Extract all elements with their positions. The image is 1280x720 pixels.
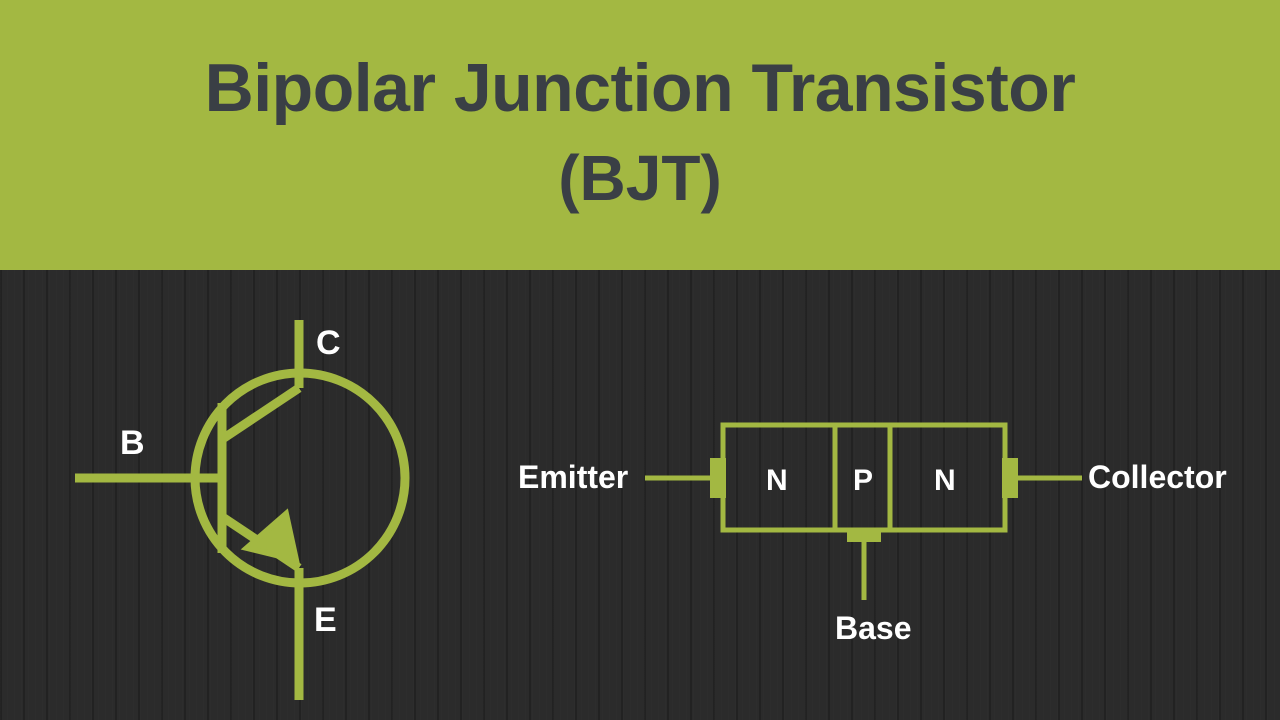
- npn-block-drawing: [0, 270, 1280, 720]
- diagram-stage: C B E: [0, 270, 1280, 720]
- block-collector-label: Collector: [1088, 461, 1227, 493]
- block-base-label: Base: [835, 612, 912, 644]
- region-letter-base: P: [853, 466, 873, 496]
- slide-root: Bipolar Junction Transistor (BJT): [0, 0, 1280, 720]
- title-banner: Bipolar Junction Transistor (BJT): [0, 0, 1280, 270]
- block-emitter-label: Emitter: [518, 461, 628, 493]
- region-letter-emitter: N: [766, 466, 788, 496]
- region-letter-collector: N: [934, 466, 956, 496]
- page-subtitle: (BJT): [558, 138, 722, 218]
- page-title: Bipolar Junction Transistor: [205, 52, 1076, 125]
- base-contact-tab: [847, 528, 881, 542]
- emitter-contact-tab: [710, 458, 726, 498]
- collector-contact-tab: [1002, 458, 1018, 498]
